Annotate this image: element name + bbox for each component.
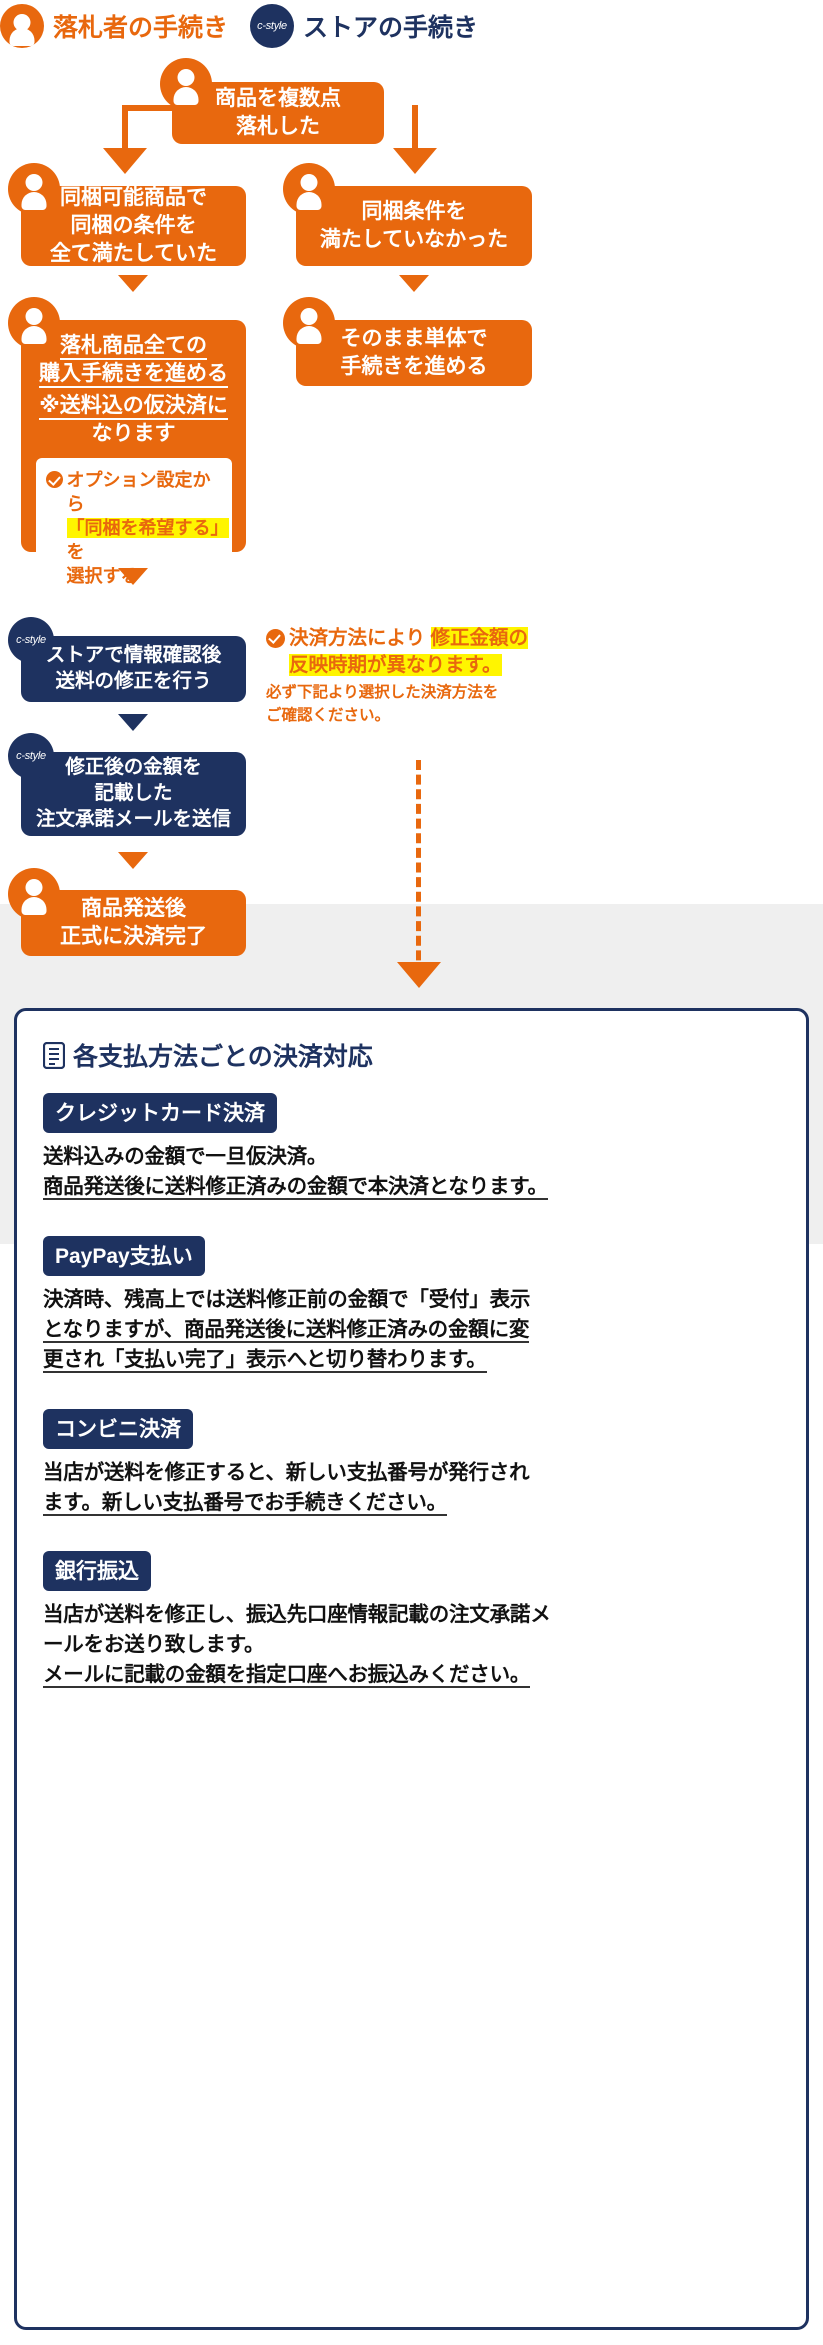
payment-body-line: メールに記載の金額を指定口座へお振込みください。 <box>43 1660 780 1690</box>
payment-panel-title-text: 各支払方法ごとの決済対応 <box>73 1037 373 1073</box>
payment-section-credit-card: クレジットカード決済 送料込みの金額で一旦仮決済。 商品発送後に送料修正済みの金… <box>43 1093 780 1202</box>
payment-section-body: 当店が送料を修正すると、新しい支払番号が発行され ます。新しい支払番号でお手続き… <box>43 1458 780 1518</box>
right-branch-line-2: 満たしていなかった <box>320 226 508 254</box>
payment-panel-title: 各支払方法ごとの決済対応 <box>43 1037 780 1073</box>
option-note-row-2: 「同梱を希望する」を <box>46 516 222 564</box>
payment-body-text: 送料込みの金額で一旦仮決済。 <box>43 1145 327 1168</box>
note-sub-line-1: 必ず下記より選択した決済方法を <box>266 682 566 704</box>
store-step2-cstyle-badge: c-style <box>8 733 54 779</box>
flow-node-left-step2: 落札商品全ての 購入手続きを進める ※送料込の仮決済に なります オプション設定… <box>21 320 246 552</box>
note-head-highlight-2: 反映時期が異なります。 <box>289 654 502 676</box>
left-step2-person-icon <box>8 297 60 349</box>
store-step1-cstyle-badge: c-style <box>8 617 54 663</box>
payment-section-body: 当店が送料を修正し、振込先口座情報記載の注文承諾メ ールをお送り致します。 メー… <box>43 1600 780 1690</box>
store-legend-label: ストアの手続き <box>303 8 478 44</box>
final-line-1: 商品発送後 <box>81 895 186 923</box>
final-person-icon <box>8 868 60 920</box>
payment-section-label: 銀行振込 <box>43 1551 151 1591</box>
check-circle-icon <box>46 471 63 488</box>
left-branch-line-2: 同梱の条件を <box>71 212 197 240</box>
connector-arrow-to-final <box>118 852 148 869</box>
note-sub-line-2: ご確認ください。 <box>266 705 566 727</box>
payment-body-line: 決済時、残高上では送料修正前の金額で「受付」表示 <box>43 1285 780 1315</box>
start-line-2: 落札した <box>236 113 320 141</box>
payment-section-label: PayPay支払い <box>43 1236 205 1276</box>
right-branch-line-1: 同梱条件を <box>362 198 467 226</box>
payment-body-line: 更され「支払い完了」表示へと切り替わります。 <box>43 1345 780 1375</box>
left-step2-line-2-text: 購入手続きを進める <box>39 362 228 388</box>
payment-body-line: 当店が送料を修正し、振込先口座情報記載の注文承諾メ <box>43 1600 780 1630</box>
payment-body-line: 当店が送料を修正すると、新しい支払番号が発行され <box>43 1458 780 1488</box>
payment-section-body: 送料込みの金額で一旦仮決済。 商品発送後に送料修正済みの金額で本決済となります。 <box>43 1142 780 1202</box>
payment-section-body: 決済時、残高上では送料修正前の金額で「受付」表示 となりますが、商品発送後に送料… <box>43 1285 780 1375</box>
payment-body-line: となりますが、商品発送後に送料修正済みの金額に変 <box>43 1315 780 1345</box>
connector-arrow-to-store-step1 <box>118 568 148 585</box>
buyer-legend-label: 落札者の手続き <box>53 8 228 44</box>
connector-arrow-to-payment-panel <box>397 962 441 988</box>
store-step2-badge-text: c-style <box>16 750 46 762</box>
left-branch-person-icon <box>8 163 60 215</box>
left-branch-line-3: 全て満たしていた <box>50 240 217 268</box>
payment-section-bank-transfer: 銀行振込 当店が送料を修正し、振込先口座情報記載の注文承諾メ ールをお送り致しま… <box>43 1551 780 1690</box>
payment-body-text: ールをお送り致します。 <box>43 1633 264 1656</box>
payment-section-convenience-store: コンビニ決済 当店が送料を修正すると、新しい支払番号が発行され ます。新しい支払… <box>43 1409 780 1518</box>
payment-body-text: メールに記載の金額を指定口座へお振込みください。 <box>43 1663 530 1688</box>
left-step2-line-1-text: 落札商品全ての <box>60 334 207 360</box>
connector-start-left-vertical <box>122 105 128 151</box>
payment-body-text: となりますが、商品発送後に送料修正済みの金額に変 <box>43 1318 529 1343</box>
payment-body-text: 決済時、残高上では送料修正前の金額で「受付」表示 <box>43 1288 530 1311</box>
store-step2-line-2: 記載した <box>94 781 172 807</box>
note-head-plain: 決済方法により <box>289 627 431 649</box>
payment-body-text: 更され「支払い完了」表示へと切り替わります。 <box>43 1348 487 1373</box>
payment-timing-note: 決済方法により 修正金額の反映時期が異なります。 必ず下記より選択した決済方法を… <box>266 625 566 727</box>
payment-body-text: 当店が送料を修正し、振込先口座情報記載の注文承諾メ <box>43 1603 551 1626</box>
left-step2-line-1: 落札商品全ての <box>60 332 207 360</box>
payment-body-line: ールをお送り致します。 <box>43 1630 780 1660</box>
right-step2-person-icon <box>283 297 335 349</box>
store-step2-line-1: 修正後の金額を <box>65 755 202 781</box>
store-step1-line-1: ストアで情報確認後 <box>46 643 222 669</box>
right-branch-person-icon <box>283 163 335 215</box>
start-person-icon <box>160 58 212 110</box>
left-step2-line-3: ※送料込の仮決済に <box>39 392 227 420</box>
left-step2-line-3-text: ※送料込の仮決済に <box>39 394 227 420</box>
right-step2-line-1: そのまま単体で <box>341 325 488 353</box>
payment-body-line: 送料込みの金額で一旦仮決済。 <box>43 1142 780 1172</box>
payment-body-text: ます。新しい支払番号でお手続きください。 <box>43 1491 447 1516</box>
connector-start-right-vertical <box>412 105 418 151</box>
cstyle-badge-text: c-style <box>257 20 287 32</box>
payment-timing-note-heading-text: 決済方法により 修正金額の反映時期が異なります。 <box>289 625 528 678</box>
connector-arrow-to-store-step2 <box>118 714 148 731</box>
payment-section-label: コンビニ決済 <box>43 1409 193 1449</box>
option-note-row-1: オプション設定から <box>46 468 222 516</box>
flow-node-store-step2: 修正後の金額を 記載した 注文承諾メールを送信 <box>21 752 246 836</box>
left-step2-line-4: なります <box>92 420 176 448</box>
store-step1-badge-text: c-style <box>16 634 46 646</box>
payment-section-paypay: PayPay支払い 決済時、残高上では送料修正前の金額で「受付」表示 となります… <box>43 1236 780 1375</box>
store-step1-line-2: 送料の修正を行う <box>55 669 211 695</box>
check-circle-icon <box>266 629 285 648</box>
connector-dashed-to-payment-panel <box>416 760 421 975</box>
option-note-line-1: オプション設定から <box>67 468 222 516</box>
note-head-highlight-1: 修正金額の <box>431 627 529 649</box>
left-step2-line-2: 購入手続きを進める <box>39 360 228 388</box>
payment-methods-panel: 各支払方法ごとの決済対応 クレジットカード決済 送料込みの金額で一旦仮決済。 商… <box>14 1008 809 2330</box>
store-cstyle-badge: c-style <box>250 4 294 48</box>
payment-timing-note-heading: 決済方法により 修正金額の反映時期が異なります。 <box>266 625 566 678</box>
document-list-icon <box>43 1042 65 1069</box>
connector-arrow-left-step2 <box>118 275 148 292</box>
left-branch-line-1: 同梱可能商品で <box>60 184 207 212</box>
payment-body-line: 商品発送後に送料修正済みの金額で本決済となります。 <box>43 1172 780 1202</box>
final-line-2: 正式に決済完了 <box>60 923 207 951</box>
connector-arrow-right-step2 <box>399 275 429 292</box>
payment-body-text: 商品発送後に送料修正済みの金額で本決済となります。 <box>43 1175 548 1200</box>
right-step2-line-2: 手続きを進める <box>341 353 488 381</box>
connector-arrow-to-right-branch <box>393 148 437 174</box>
legend-header: 落札者の手続き c-style ストアの手続き <box>0 0 823 52</box>
option-note-highlight: 「同梱を希望する」 <box>67 518 229 538</box>
connector-arrow-to-left-branch <box>103 148 147 174</box>
payment-timing-note-sub: 必ず下記より選択した決済方法を ご確認ください。 <box>266 682 566 727</box>
payment-body-line: ます。新しい支払番号でお手続きください。 <box>43 1488 780 1518</box>
payment-section-label: クレジットカード決済 <box>43 1093 277 1133</box>
store-step2-line-3: 注文承諾メールを送信 <box>36 807 231 833</box>
start-line-1: 商品を複数点 <box>215 85 341 113</box>
buyer-person-icon <box>0 4 44 48</box>
option-note-line-2-tail: を <box>67 542 85 562</box>
payment-body-text: 当店が送料を修正すると、新しい支払番号が発行され <box>43 1461 529 1484</box>
flow-node-store-step1: ストアで情報確認後 送料の修正を行う <box>21 636 246 702</box>
